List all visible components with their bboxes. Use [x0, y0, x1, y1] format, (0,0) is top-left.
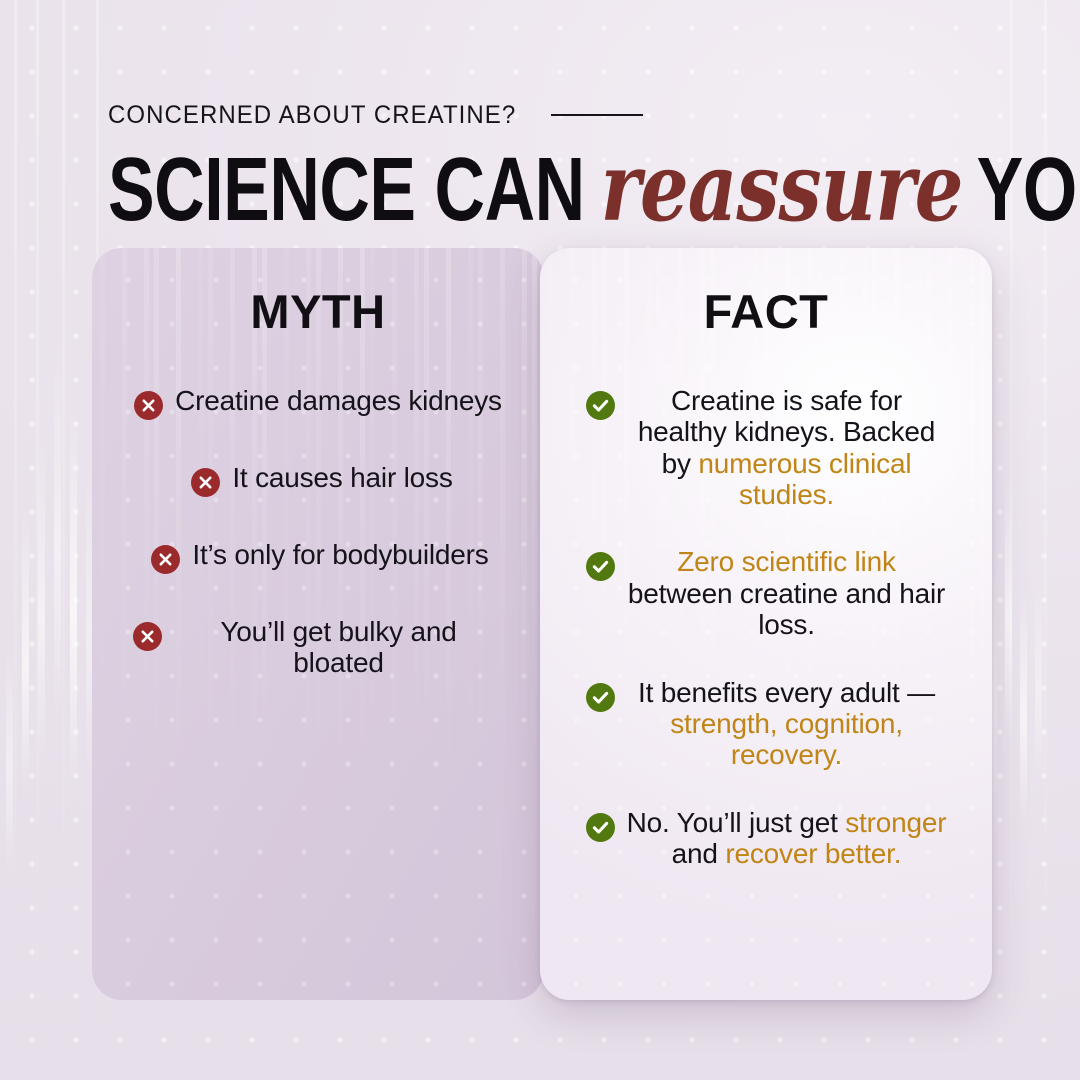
page-title: SCIENCE CAN reassure YOU.	[108, 140, 936, 236]
check-circle-icon	[586, 552, 615, 581]
myth-item-text: It causes hair loss	[232, 462, 452, 493]
fact-list: Creatine is safe for healthy kidneys. Ba…	[566, 385, 966, 869]
eyebrow-text: CONCERNED ABOUT CREATINE?	[108, 101, 516, 130]
fact-highlight-text: stronger	[845, 807, 946, 838]
fact-highlight-text: Zero scientific link	[677, 546, 896, 577]
fact-plain-text: between creatine and hair loss.	[628, 578, 945, 640]
myth-list-item: It causes hair loss	[118, 462, 518, 497]
check-circle-icon	[586, 683, 615, 712]
headline-script-accent: reassure	[597, 140, 966, 234]
comparison-cards: MYTH Creatine damages kidneysIt causes h…	[0, 248, 1080, 1008]
eyebrow-rule	[551, 114, 643, 116]
myth-list-item: It’s only for bodybuilders	[118, 539, 518, 574]
fact-list-item: Creatine is safe for healthy kidneys. Ba…	[566, 385, 966, 510]
myth-list-item: You’ll get bulky and bloated	[118, 616, 518, 679]
headline-part-after: YOU.	[977, 140, 1080, 240]
poster-canvas: CONCERNED ABOUT CREATINE? SCIENCE CAN re…	[0, 0, 1080, 1080]
header-block: CONCERNED ABOUT CREATINE? SCIENCE CAN re…	[108, 100, 1008, 221]
fact-column-title: FACT	[566, 284, 966, 339]
fact-card: FACT Creatine is safe for healthy kidney…	[540, 248, 992, 1000]
myth-item-text: You’ll get bulky and bloated	[174, 616, 504, 679]
myth-list-item: Creatine damages kidneys	[118, 385, 518, 420]
myth-item-text: Creatine damages kidneys	[175, 385, 502, 416]
fact-item-text: Zero scientific link between creatine an…	[627, 546, 947, 640]
check-circle-icon	[586, 813, 615, 842]
x-circle-icon	[191, 468, 220, 497]
fact-list-item: No. You’ll just get stronger and recover…	[566, 807, 966, 870]
myth-list: Creatine damages kidneysIt causes hair l…	[118, 385, 518, 679]
fact-plain-text: No. You’ll just get	[627, 807, 846, 838]
fact-highlight-text: numerous clinical studies.	[698, 448, 911, 510]
fact-plain-text: and	[672, 838, 726, 869]
eyebrow-row: CONCERNED ABOUT CREATINE?	[108, 100, 1008, 130]
fact-plain-text: It benefits every adult —	[638, 677, 935, 708]
fact-list-item: Zero scientific link between creatine an…	[566, 546, 966, 640]
fact-highlight-text: strength, cognition, recovery.	[670, 708, 903, 770]
headline-part-before: SCIENCE CAN	[108, 140, 585, 240]
fact-list-item: It benefits every adult — strength, cogn…	[566, 677, 966, 771]
fact-item-text: Creatine is safe for healthy kidneys. Ba…	[627, 385, 947, 510]
check-circle-icon	[586, 391, 615, 420]
myth-column-title: MYTH	[118, 284, 518, 339]
fact-item-text: It benefits every adult — strength, cogn…	[627, 677, 947, 771]
fact-highlight-text: recover better.	[725, 838, 901, 869]
x-circle-icon	[151, 545, 180, 574]
x-circle-icon	[133, 622, 162, 651]
x-circle-icon	[134, 391, 163, 420]
myth-card: MYTH Creatine damages kidneysIt causes h…	[92, 248, 544, 1000]
myth-item-text: It’s only for bodybuilders	[192, 539, 488, 570]
fact-item-text: No. You’ll just get stronger and recover…	[627, 807, 947, 870]
